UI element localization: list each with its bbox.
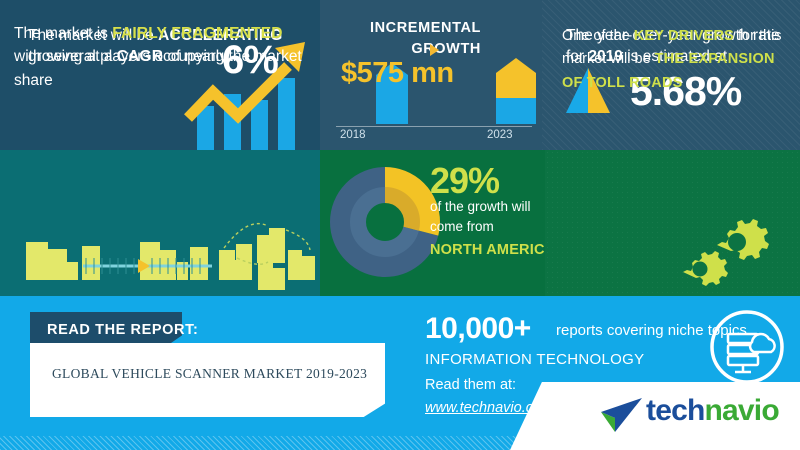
panel-fragmented [0, 150, 320, 296]
cloud-server-icon [702, 306, 792, 392]
fragmented-lead: The market is [14, 25, 112, 42]
donut-description: of the growth will come from [430, 197, 550, 236]
reports-category: INFORMATION TECHNOLOGY [425, 351, 644, 368]
reports-count: 10,000+ [425, 312, 531, 346]
infographic-root: The market will be ACCELERATING growing … [0, 0, 800, 450]
incremental-year-start: 2018 [340, 129, 366, 141]
drivers-strong-key: KEY DRIVERS [634, 28, 734, 44]
incremental-axis-line [336, 126, 532, 127]
read-the-report-label: READ THE REPORT: [47, 322, 198, 338]
incremental-growth-title: INCREMENTAL GROWTH [341, 18, 481, 60]
donut-value: 29% [430, 160, 499, 202]
fragmented-tail: with several players occupying the marke… [14, 48, 302, 88]
drivers-lead: One of the [562, 28, 634, 44]
incremental-year-end: 2023 [487, 129, 513, 141]
report-title: GLOBAL VEHICLE SCANNER MARKET 2019-2023 [52, 364, 372, 385]
play-caret-icon [430, 44, 439, 56]
city-clusters-illustration-icon [0, 150, 320, 296]
fragmented-description: The market is FAIRLY FRAGMENTED with sev… [14, 22, 314, 92]
gears-icon [545, 150, 800, 296]
panel-key-drivers [545, 150, 800, 296]
drivers-description: One of the KEY DRIVERS for this market w… [562, 25, 792, 95]
logo-part-tech: tech [646, 394, 705, 427]
donut-region-label: NORTH AMERICA [430, 242, 555, 258]
logo-part-navio: navio [705, 394, 779, 427]
read-them-at-label: Read them at: [425, 377, 516, 393]
incremental-growth-value: $575 mn [341, 57, 454, 90]
fragmented-strong: FAIRLY FRAGMENTED [112, 25, 282, 42]
technavio-wordmark: technavio [646, 394, 779, 428]
technavio-arrow-icon [598, 396, 644, 436]
